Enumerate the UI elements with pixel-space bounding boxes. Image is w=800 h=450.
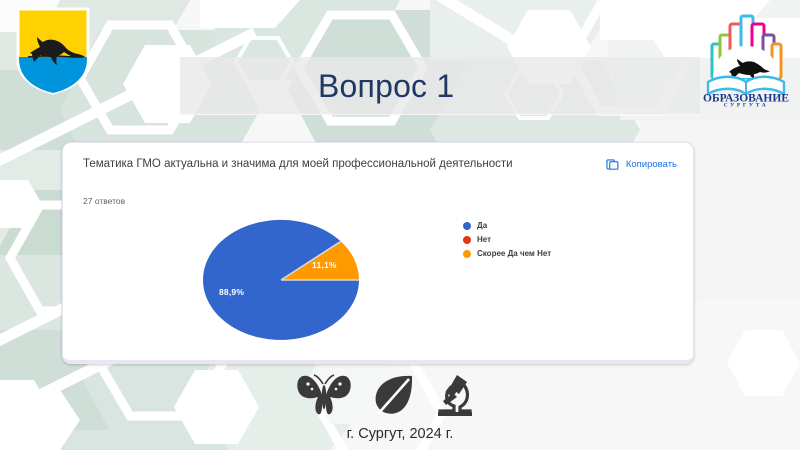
legend-color-dot [463, 222, 471, 230]
legend-item[interactable]: Да [463, 221, 551, 230]
obrazovanie-surguta-logo: ОБРАЗОВАНИЕ СУРГУТА [700, 2, 792, 107]
footer-icon-row [296, 372, 476, 418]
legend-label: Скорее Да чем Нет [477, 249, 551, 258]
response-count: 27 ответов [83, 196, 125, 206]
pie-chart: 88,9% 11,1% [150, 205, 420, 355]
copy-button-label: Копировать [626, 159, 677, 170]
leaf-icon [371, 373, 415, 417]
chart-legend: Да Нет Скорее Да чем Нет [463, 221, 551, 258]
copy-icon [606, 158, 619, 171]
card-header: Тематика ГМО актуальна и значима для мое… [83, 156, 677, 172]
copy-button[interactable]: Копировать [606, 156, 677, 171]
pie-slice-label-secondary: 11,1% [312, 260, 337, 270]
legend-label: Да [477, 221, 487, 230]
page-title: Вопрос 1 [318, 58, 454, 114]
legend-label: Нет [477, 235, 491, 244]
butterfly-icon [296, 373, 352, 417]
footer-caption: г. Сургут, 2024 г. [0, 426, 800, 442]
logo-text-line2: СУРГУТА [724, 103, 769, 108]
question-title: Тематика ГМО актуальна и значима для мое… [83, 156, 513, 172]
presentation-slide: Вопрос 1 [0, 0, 800, 450]
legend-color-dot [463, 236, 471, 244]
legend-item[interactable]: Нет [463, 235, 551, 244]
pie-slice-label-primary: 88,9% [219, 287, 244, 297]
surgut-coat-of-arms-icon [16, 7, 90, 95]
microscope-icon [434, 373, 476, 417]
legend-item[interactable]: Скорее Да чем Нет [463, 249, 551, 258]
legend-color-dot [463, 250, 471, 258]
